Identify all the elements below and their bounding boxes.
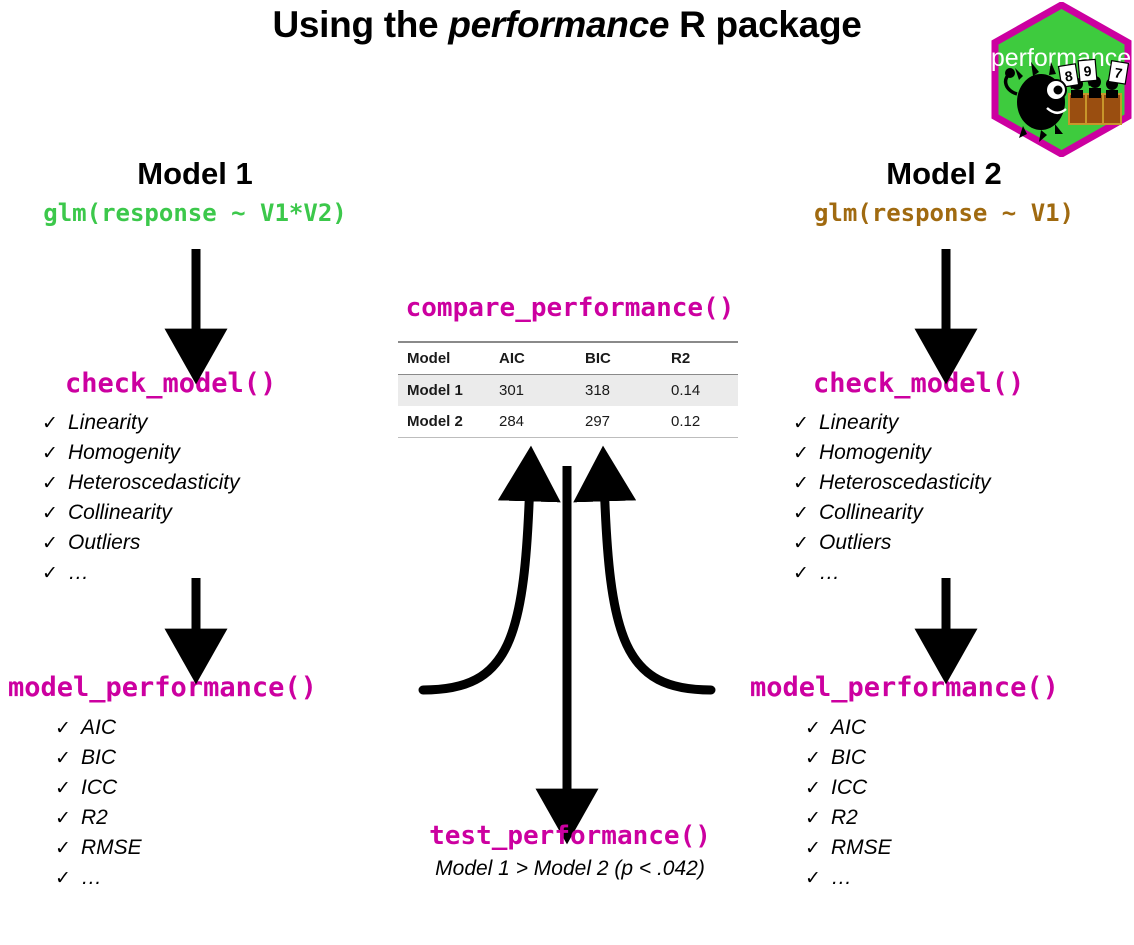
left-check-model-item: ✓Heteroscedasticity xyxy=(42,468,240,498)
left-check-model-item-label: Outliers xyxy=(68,531,140,554)
right-check-model-item-label: Outliers xyxy=(819,531,891,554)
right-check-model-title: check_model() xyxy=(813,368,1024,399)
check-icon: ✓ xyxy=(793,559,819,588)
right-check-model-item-label: … xyxy=(819,561,840,584)
table-row: Model 2 284 297 0.12 xyxy=(398,406,738,438)
right-model-performance-item-label: AIC xyxy=(831,716,866,739)
left-check-model-item: ✓Homogenity xyxy=(42,438,240,468)
left-model-performance-title: model_performance() xyxy=(8,672,317,703)
right-check-model-item: ✓Outliers xyxy=(793,528,991,558)
cell-bic: 318 xyxy=(576,375,662,407)
check-icon: ✓ xyxy=(42,469,68,498)
test-performance-title: test_performance() xyxy=(330,821,810,851)
right-check-model-item: ✓Homogenity xyxy=(793,438,991,468)
check-icon: ✓ xyxy=(55,714,81,743)
right-check-model-item-label: Linearity xyxy=(819,411,898,434)
performance-hex-logo: performance 8 9 7 xyxy=(989,2,1134,157)
score-card-1: 9 xyxy=(1083,63,1092,80)
page-title-prefix: Using the xyxy=(272,4,448,45)
right-model-performance-item-label: RMSE xyxy=(831,836,892,859)
left-model-performance-item-label: AIC xyxy=(81,716,116,739)
right-model-performance-item-label: … xyxy=(831,866,852,889)
check-icon: ✓ xyxy=(793,529,819,558)
model-1-heading: Model 1 xyxy=(0,156,390,192)
left-check-model-item: ✓Linearity xyxy=(42,408,240,438)
check-icon: ✓ xyxy=(55,744,81,773)
cell-aic: 301 xyxy=(490,375,576,407)
left-model-performance-item-label: R2 xyxy=(81,806,108,829)
left-model-performance-item: ✓R2 xyxy=(55,803,142,833)
check-icon: ✓ xyxy=(55,774,81,803)
column-header-model: Model xyxy=(398,342,490,375)
check-icon: ✓ xyxy=(42,559,68,588)
check-icon: ✓ xyxy=(55,864,81,893)
arrow-left-performance-to-compare xyxy=(423,478,530,690)
check-icon: ✓ xyxy=(793,499,819,528)
left-check-model-item: ✓… xyxy=(42,558,240,588)
right-model-performance-title: model_performance() xyxy=(750,672,1059,703)
check-icon: ✓ xyxy=(42,529,68,558)
page-title-suffix: R package xyxy=(669,4,861,45)
left-model-performance-item: ✓RMSE xyxy=(55,833,142,863)
right-model-performance-item: ✓ICC xyxy=(805,773,892,803)
right-check-model-item-label: Heteroscedasticity xyxy=(819,471,991,494)
right-model-performance-list: ✓AIC✓BIC✓ICC✓R2✓RMSE✓… xyxy=(805,713,892,893)
right-check-model-item-label: Homogenity xyxy=(819,441,931,464)
left-model-performance-item: ✓… xyxy=(55,863,142,893)
right-check-model-item: ✓Linearity xyxy=(793,408,991,438)
page-title: Using the performance R package xyxy=(0,4,1134,46)
right-model-performance-item: ✓RMSE xyxy=(805,833,892,863)
right-model-performance-item: ✓AIC xyxy=(805,713,892,743)
compare-performance-table: Model AIC BIC R2 Model 1 301 318 0.14 Mo… xyxy=(398,341,738,438)
cell-model: Model 2 xyxy=(398,406,490,438)
right-model-performance-item: ✓R2 xyxy=(805,803,892,833)
left-check-model-item-label: … xyxy=(68,561,89,584)
check-icon: ✓ xyxy=(42,499,68,528)
right-model-performance-item-label: R2 xyxy=(831,806,858,829)
cell-aic: 284 xyxy=(490,406,576,438)
left-model-performance-item: ✓AIC xyxy=(55,713,142,743)
model-2-formula: glm(response ~ V1) xyxy=(754,199,1134,227)
left-model-performance-item-label: BIC xyxy=(81,746,116,769)
check-icon: ✓ xyxy=(805,714,831,743)
left-model-performance-item-label: ICC xyxy=(81,776,117,799)
column-header-r2: R2 xyxy=(662,342,738,375)
left-model-performance-list: ✓AIC✓BIC✓ICC✓R2✓RMSE✓… xyxy=(55,713,142,893)
left-check-model-item: ✓Collinearity xyxy=(42,498,240,528)
right-check-model-item-label: Collinearity xyxy=(819,501,923,524)
right-model-performance-item: ✓BIC xyxy=(805,743,892,773)
right-model-performance-item: ✓… xyxy=(805,863,892,893)
model-2-heading: Model 2 xyxy=(754,156,1134,192)
left-check-model-item-label: Homogenity xyxy=(68,441,180,464)
cell-model: Model 1 xyxy=(398,375,490,407)
check-icon: ✓ xyxy=(805,774,831,803)
check-icon: ✓ xyxy=(55,804,81,833)
left-model-performance-item-label: RMSE xyxy=(81,836,142,859)
judge-bench xyxy=(1069,94,1121,124)
left-model-performance-item: ✓ICC xyxy=(55,773,142,803)
cell-r2: 0.14 xyxy=(662,375,738,407)
right-check-model-list: ✓Linearity✓Homogenity✓Heteroscedasticity… xyxy=(793,408,991,588)
compare-performance-title: compare_performance() xyxy=(380,293,760,323)
left-check-model-item-label: Collinearity xyxy=(68,501,172,524)
right-check-model-item: ✓Heteroscedasticity xyxy=(793,468,991,498)
check-icon: ✓ xyxy=(55,834,81,863)
right-model-performance-item-label: ICC xyxy=(831,776,867,799)
cell-bic: 297 xyxy=(576,406,662,438)
table-row: Model 1 301 318 0.14 xyxy=(398,375,738,407)
column-header-bic: BIC xyxy=(576,342,662,375)
left-check-model-item: ✓Outliers xyxy=(42,528,240,558)
left-check-model-item-label: Linearity xyxy=(68,411,147,434)
check-icon: ✓ xyxy=(805,744,831,773)
left-check-model-list: ✓Linearity✓Homogenity✓Heteroscedasticity… xyxy=(42,408,240,588)
check-icon: ✓ xyxy=(42,439,68,468)
right-check-model-item: ✓Collinearity xyxy=(793,498,991,528)
left-model-performance-item: ✓BIC xyxy=(55,743,142,773)
left-check-model-title: check_model() xyxy=(65,368,276,399)
check-icon: ✓ xyxy=(793,409,819,438)
left-model-performance-item-label: … xyxy=(81,866,102,889)
left-check-model-item-label: Heteroscedasticity xyxy=(68,471,240,494)
cell-r2: 0.12 xyxy=(662,406,738,438)
page-title-emphasis: performance xyxy=(448,4,669,45)
check-icon: ✓ xyxy=(793,469,819,498)
model-1-formula: glm(response ~ V1*V2) xyxy=(0,199,390,227)
monster-pupil xyxy=(1054,86,1063,95)
right-check-model-item: ✓… xyxy=(793,558,991,588)
column-header-aic: AIC xyxy=(490,342,576,375)
arrow-right-performance-to-compare xyxy=(604,478,711,690)
right-model-performance-item-label: BIC xyxy=(831,746,866,769)
check-icon: ✓ xyxy=(42,409,68,438)
test-performance-caption: Model 1 > Model 2 (p < .042) xyxy=(330,857,810,881)
table-header-row: Model AIC BIC R2 xyxy=(398,342,738,375)
check-icon: ✓ xyxy=(793,439,819,468)
